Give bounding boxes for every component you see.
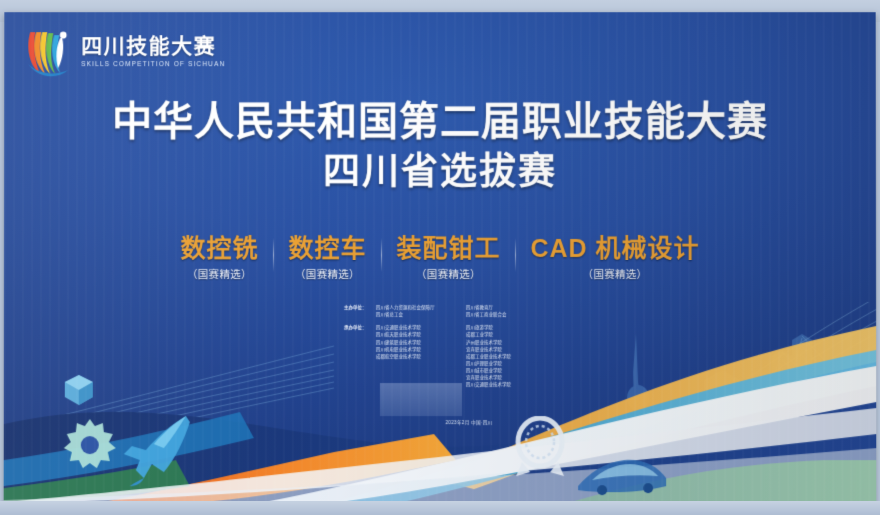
host-organizer-row: 主办单位： 四川省人力资源和社会保障厅 四川省总工会 四川省教育厅 四川省工商业…: [344, 304, 594, 318]
list-item: 四川省教育厅: [466, 304, 566, 311]
co-organizer-label: 承办单位：: [344, 324, 376, 388]
category-sublabel: （国赛精选）: [180, 267, 258, 282]
list-item: 四川省人力资源和社会保障厅: [376, 304, 466, 311]
list-item: 四川护理职业学院: [466, 360, 566, 367]
category-item-1: 数控铣 （国赛精选）: [165, 234, 273, 282]
logo-title-cn: 四川技能大赛: [81, 36, 225, 58]
list-item: 四川交通职业技术学院: [466, 381, 566, 388]
headline-line-1: 中华人民共和国第二届职业技能大赛: [4, 100, 876, 145]
category-item-4: CAD 机械设计 （国赛精选）: [515, 234, 714, 282]
list-item: 四川省工商业联合会: [466, 311, 566, 318]
co-organizer-row: 承办单位： 四川交通职业技术学院 四川航天职业技术学院 四川建筑职业技术学院 四…: [344, 324, 594, 388]
category-sublabel: （国赛精选）: [396, 267, 500, 282]
event-backdrop-banner: 四川技能大赛 SKILLS COMPETITION OF SICHUAN 中华人…: [4, 12, 877, 504]
headline-block: 中华人民共和国第二届职业技能大赛 四川省选拔赛: [4, 100, 876, 194]
car-silhouette-icon: [574, 452, 670, 498]
gear-icon: [62, 417, 118, 473]
rocket-icon: [114, 410, 198, 486]
category-item-3: 装配钳工 （国赛精选）: [381, 234, 515, 282]
event-logo: 四川技能大赛 SKILLS COMPETITION OF SICHUAN: [22, 24, 225, 80]
cube-icon: [62, 372, 96, 408]
wall-below-banner: [0, 501, 880, 515]
list-item: 成都航空职业技术学院: [376, 353, 466, 360]
list-item: 成都工业学院: [466, 331, 566, 338]
logo-title-en: SKILLS COMPETITION OF SICHUAN: [81, 61, 225, 68]
list-item: 四川城市职业学院: [466, 367, 566, 374]
category-sublabel: （国赛精选）: [288, 267, 366, 282]
headline-line-2: 四川省选拔赛: [4, 150, 876, 194]
category-name: 数控车: [288, 234, 366, 265]
list-item: 泸州职业技术学院: [466, 339, 566, 346]
list-item: 宜宾职业技术学院: [466, 346, 566, 353]
list-item: 宜宾职业技术学院: [466, 374, 566, 381]
event-date-location: 2023年2月 中国·四川: [344, 420, 594, 426]
category-name: 装配钳工: [396, 234, 500, 265]
co-organizer-col-left: 四川交通职业技术学院 四川航天职业技术学院 四川建筑职业技术学院 四川机电职业技…: [376, 324, 466, 388]
host-organizer-col-right: 四川省教育厅 四川省工商业联合会: [466, 304, 566, 318]
category-name: 数控铣: [180, 234, 258, 265]
co-organizer-col-right: 四川旅游学院 成都工业学院 泸州职业技术学院 宜宾职业技术学院 成都工业职业技术…: [466, 324, 566, 388]
list-item: 四川建筑职业技术学院: [376, 339, 466, 346]
host-organizer-label: 主办单位：: [344, 304, 376, 318]
category-sublabel: （国赛精选）: [530, 267, 699, 282]
list-item: 成都工业职业技术学院: [466, 353, 566, 360]
host-organizer-col-left: 四川省人力资源和社会保障厅 四川省总工会: [376, 304, 466, 318]
list-item: 四川省总工会: [376, 311, 466, 318]
category-list: 数控铣 （国赛精选） 数控车 （国赛精选） 装配钳工 （国赛精选） CAD 机械…: [4, 234, 876, 282]
category-name: CAD 机械设计: [530, 234, 699, 265]
list-item: 四川机电职业技术学院: [376, 346, 466, 353]
organizer-block: 主办单位： 四川省人力资源和社会保障厅 四川省总工会 四川省教育厅 四川省工商业…: [344, 304, 594, 394]
list-item: 四川航天职业技术学院: [376, 331, 466, 338]
sichuan-skills-flame-logo-icon: [22, 24, 74, 80]
list-item: 四川交通职业技术学院: [376, 324, 466, 331]
photo-stage: 四川技能大赛 SKILLS COMPETITION OF SICHUAN 中华人…: [0, 0, 880, 515]
list-item: 四川旅游学院: [466, 324, 566, 331]
category-item-2: 数控车 （国赛精选）: [273, 234, 381, 282]
